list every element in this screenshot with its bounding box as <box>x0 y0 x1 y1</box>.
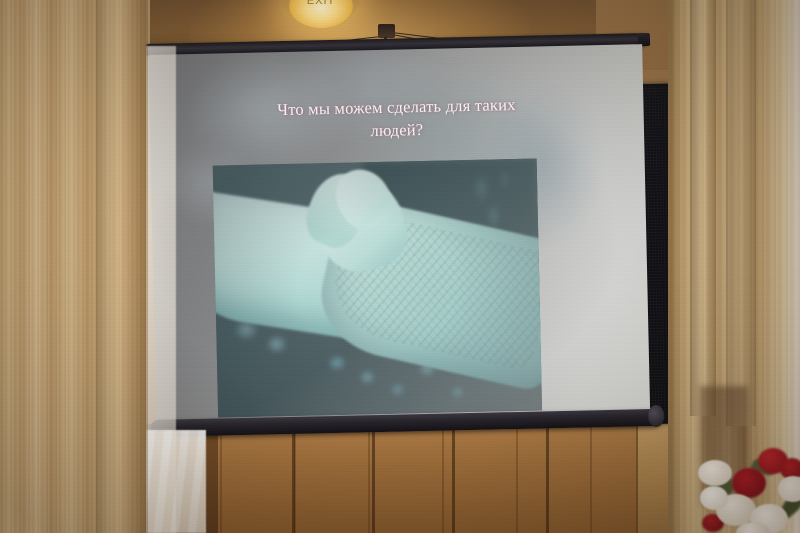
curtain-right-fold <box>726 0 756 426</box>
white-lily <box>698 460 732 486</box>
screen-surface: Что мы можем сделать для таких людей? <box>148 44 650 427</box>
slide-photo-hands <box>213 159 542 418</box>
slide-title: Что мы можем сделать для таких людей? <box>171 91 622 148</box>
curtain-right-fold <box>690 0 716 416</box>
room-photograph: EXIT JBL <box>0 0 800 533</box>
flower-bouquet <box>706 452 800 533</box>
white-lily <box>700 486 728 510</box>
white-lily <box>778 476 800 502</box>
exit-sign-label: EXIT <box>289 0 353 7</box>
projection-screen: Что мы можем сделать для таких людей? <box>146 33 655 460</box>
projector-light-wash <box>213 159 542 418</box>
curtain-left-fold <box>96 0 148 533</box>
